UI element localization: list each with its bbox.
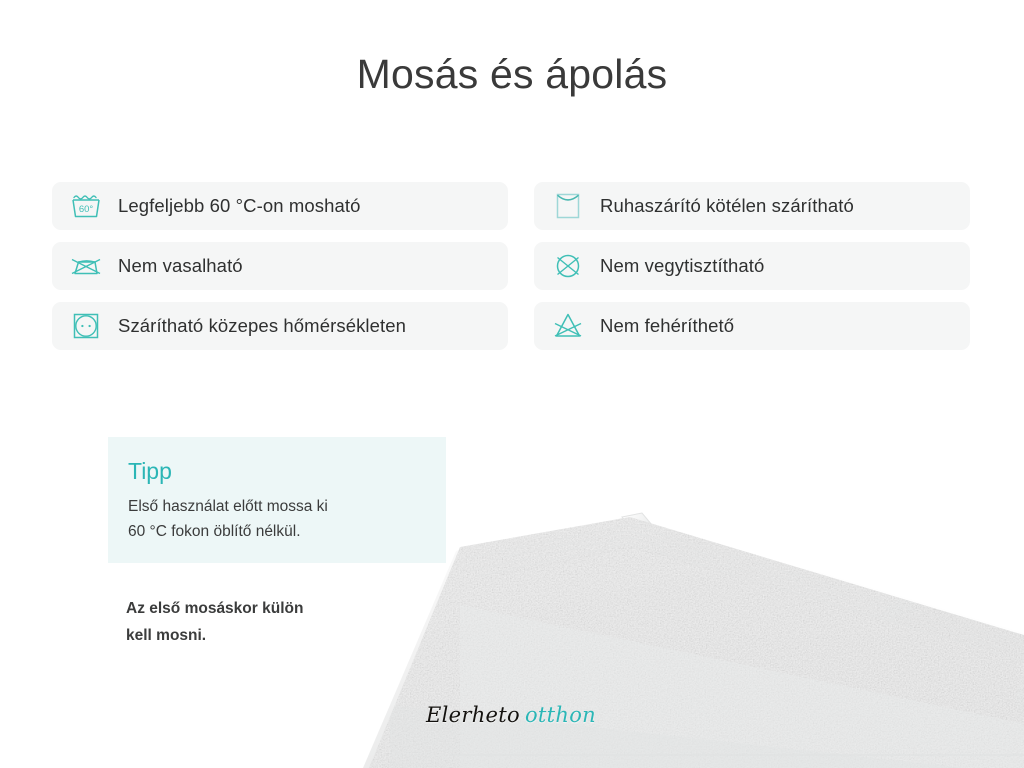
brand-word-secondary: otthon [525, 703, 596, 727]
care-row-no-iron: Nem vasalható [52, 242, 508, 290]
care-row-wash-60: 60° Legfeljebb 60 °C-on mosható [52, 182, 508, 230]
line-dry-icon [550, 189, 586, 223]
care-label: Nem vegytisztítható [600, 255, 764, 277]
care-row-no-bleach: Nem fehéríthető [534, 302, 970, 350]
care-row-no-dry-clean: Nem vegytisztítható [534, 242, 970, 290]
care-row-tumble-dry-medium: Szárítható közepes hőmérsékleten [52, 302, 508, 350]
note-line-1: Az első mosáskor külön [126, 600, 303, 617]
wash-60-tub-icon: 60° [68, 189, 104, 223]
care-instruction-column-left: 60° Legfeljebb 60 °C-on mosható Nem vasa… [52, 182, 508, 362]
care-label: Szárítható közepes hőmérsékleten [118, 315, 406, 337]
tumble-dry-medium-icon [68, 309, 104, 343]
note-text: Az első mosáskor külön kell mosni. [126, 596, 426, 649]
tip-text: Első használat előtt mossa ki 60 °C foko… [128, 494, 422, 544]
care-instruction-column-right: Ruhaszárító kötélen szárítható Nem vegyt… [534, 182, 970, 362]
care-label: Nem vasalható [118, 255, 243, 277]
care-row-line-dry: Ruhaszárító kötélen szárítható [534, 182, 970, 230]
tip-text-line-1: Első használat előtt mossa ki [128, 498, 328, 515]
slide-canvas: Mosás és ápolás 60° Legfeljebb 60 °C-on … [0, 0, 1024, 768]
no-dry-clean-icon [550, 249, 586, 283]
tip-text-line-2: 60 °C fokon öblítő nélkül. [128, 523, 301, 540]
no-iron-icon [68, 249, 104, 283]
care-label: Legfeljebb 60 °C-on mosható [118, 195, 361, 217]
brand-word-primary: Elerheto [426, 703, 520, 727]
brand-logo: Elerhetootthon [426, 703, 596, 727]
tip-box: Tipp Első használat előtt mossa ki 60 °C… [108, 437, 446, 563]
note-line-2: kell mosni. [126, 627, 206, 644]
care-label: Nem fehéríthető [600, 315, 734, 337]
tip-title: Tipp [128, 459, 422, 484]
page-title: Mosás és ápolás [0, 50, 1024, 99]
care-label: Ruhaszárító kötélen szárítható [600, 195, 854, 217]
no-bleach-icon [550, 309, 586, 343]
svg-text:60°: 60° [79, 204, 94, 215]
